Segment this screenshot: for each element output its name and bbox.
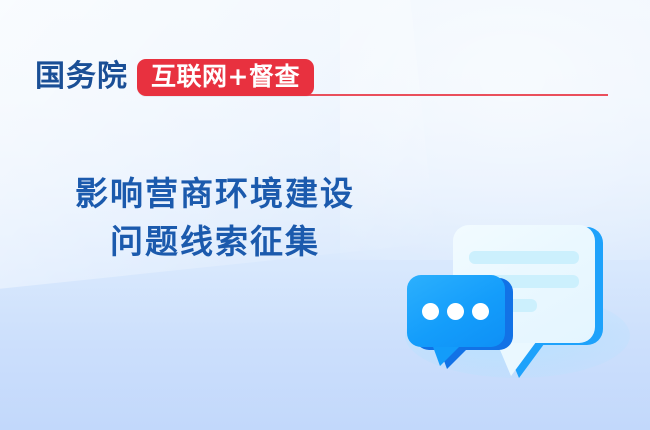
banner-header: 国务院 互联网+督查 [35,57,314,97]
banner-title: 影响营商环境建设 问题线索征集 [0,170,430,266]
promo-banner: 国务院 互联网+督查 影响营商环境建设 问题线索征集 [0,0,650,430]
title-line-2: 问题线索征集 [0,218,430,266]
organization-label: 国务院 [35,62,128,92]
small-bubble-tail [432,344,462,366]
header-divider-line [299,94,608,96]
message-text-line-1 [469,251,579,264]
campaign-badge: 互联网+督查 [137,59,314,96]
chat-bubbles-illustration [395,205,640,400]
typing-dot-1-icon [422,303,439,320]
typing-dot-3-icon [472,303,489,320]
title-line-1: 影响营商环境建设 [0,170,430,218]
typing-dot-2-icon [447,303,464,320]
